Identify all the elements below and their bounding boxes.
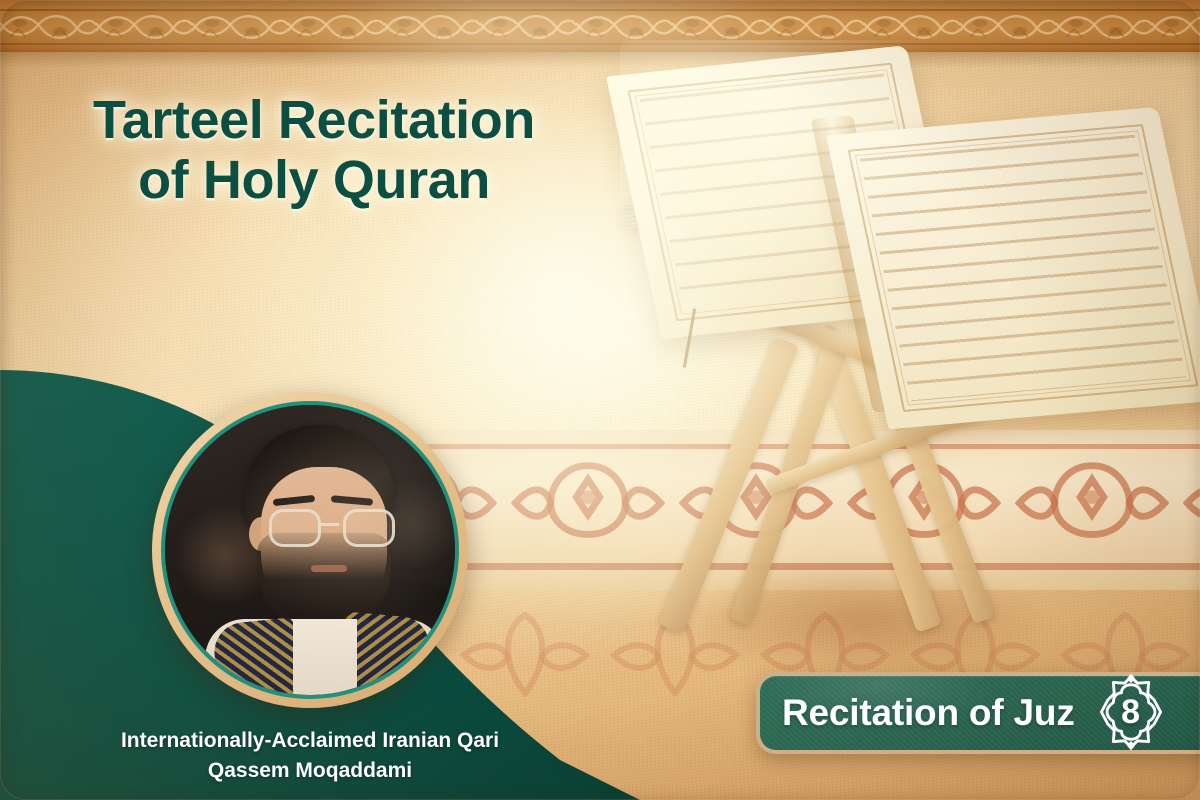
- quran-page-right: [826, 107, 1200, 429]
- open-quran-book: [620, 40, 1200, 440]
- juz-badge-label: Recitation of Juz: [782, 692, 1075, 734]
- page-title: Tarteel Recitation of Holy Quran: [34, 90, 594, 211]
- title-line-1: Tarteel Recitation: [93, 90, 535, 150]
- avatar-ring: [161, 401, 459, 699]
- page-text-lines-right: [860, 135, 1187, 402]
- juz-number: 8: [1091, 672, 1171, 752]
- avatar: [152, 392, 468, 708]
- speaker-caption: Internationally-Acclaimed Iranian Qari Q…: [0, 726, 620, 786]
- avatar-photo: [165, 405, 455, 695]
- caption-line-1: Internationally-Acclaimed Iranian Qari: [0, 726, 620, 756]
- juz-badge[interactable]: Recitation of Juz 8: [756, 672, 1200, 754]
- poster-canvas: Tarteel Recitation of Holy Quran: [0, 0, 1200, 800]
- band-vine-pattern: [0, 11, 1200, 43]
- portrait-light-overlay: [165, 405, 455, 695]
- caption-line-2: Qassem Moqaddami: [0, 756, 620, 786]
- rehal-book-stand: [620, 40, 1200, 660]
- star-medallion-icon: 8: [1091, 672, 1171, 752]
- title-line-2: of Holy Quran: [34, 150, 594, 210]
